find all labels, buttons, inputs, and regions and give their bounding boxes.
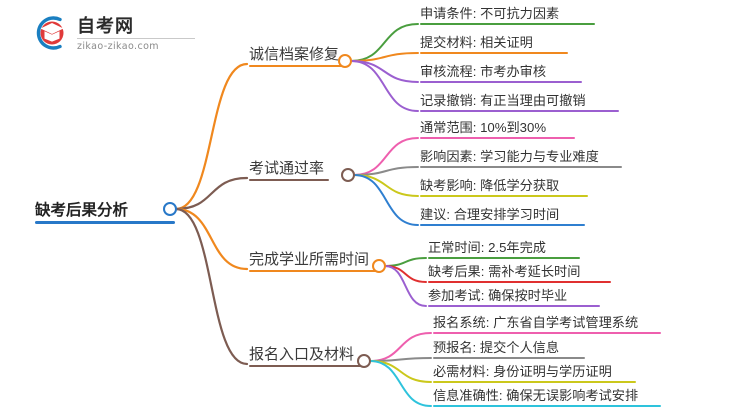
logo-domain: zikao-zikao.com [77, 42, 195, 52]
leaf-node-4-4[interactable]: 信息准确性: 确保无误影响考试安排 [433, 385, 661, 407]
connector-path [351, 53, 418, 61]
leaf-node-3-2-label: 缺考后果: 需补考延长时间 [428, 261, 611, 280]
graduation-cap-icon [28, 12, 70, 54]
branch-node-3[interactable]: 完成学业所需时间 [249, 248, 377, 272]
connector-path [351, 24, 418, 61]
leaf-node-1-1[interactable]: 申请条件: 不可抗力因素 [420, 3, 595, 25]
leaf-node-2-1[interactable]: 通常范围: 10%到30% [420, 117, 575, 139]
leaf-node-4-1-underline [433, 332, 661, 334]
leaf-node-4-2-underline [433, 357, 585, 359]
branch-node-3-label: 完成学业所需时间 [249, 248, 377, 269]
leaf-node-2-4-label: 建议: 合理安排学习时间 [420, 204, 585, 223]
branch-connector-dot-3[interactable] [372, 259, 386, 273]
leaf-node-2-1-underline [420, 137, 575, 139]
branch-node-1-label: 诚信档案修复 [249, 43, 344, 64]
leaf-node-1-4-underline [420, 110, 619, 112]
connector-path [176, 209, 247, 364]
root-node[interactable]: 缺考后果分析 [35, 198, 175, 224]
leaf-node-3-3-underline [428, 305, 600, 307]
connector-path [385, 266, 426, 306]
leaf-node-3-2[interactable]: 缺考后果: 需补考延长时间 [428, 261, 611, 283]
leaf-node-3-2-underline [428, 281, 611, 283]
connector-path [351, 61, 418, 82]
branch-node-3-underline [249, 270, 377, 272]
branch-node-2-underline [249, 179, 329, 181]
leaf-node-2-2[interactable]: 影响因素: 学习能力与专业难度 [420, 146, 622, 168]
site-logo: 自考网 zikao-zikao.com [28, 12, 195, 54]
branch-node-4-label: 报名入口及材料 [249, 343, 362, 364]
connector-path [354, 175, 418, 196]
leaf-node-2-3-label: 缺考影响: 降低学分获取 [420, 175, 588, 194]
leaf-node-4-3[interactable]: 必需材料: 身份证明与学历证明 [433, 361, 636, 383]
leaf-node-1-2-underline [420, 52, 568, 54]
branch-node-2[interactable]: 考试通过率 [249, 157, 329, 181]
leaf-node-3-3-label: 参加考试: 确保按时毕业 [428, 285, 600, 304]
connector-path [370, 358, 431, 361]
branch-node-1[interactable]: 诚信档案修复 [249, 43, 344, 67]
root-connector-dot[interactable] [163, 202, 177, 216]
leaf-node-2-4[interactable]: 建议: 合理安排学习时间 [420, 204, 585, 226]
mindmap-canvas: 自考网 zikao-zikao.com 缺考后果分析诚信档案修复申请条件: 不可… [0, 0, 750, 410]
leaf-node-4-2[interactable]: 预报名: 提交个人信息 [433, 337, 585, 359]
leaf-node-4-4-label: 信息准确性: 确保无误影响考试安排 [433, 385, 661, 404]
connector-path [385, 258, 426, 266]
leaf-node-4-3-underline [433, 381, 636, 383]
connector-path [176, 209, 247, 269]
branch-node-1-underline [249, 65, 344, 67]
branch-connector-dot-1[interactable] [338, 54, 352, 68]
leaf-node-1-3[interactable]: 审核流程: 市考办审核 [420, 61, 582, 83]
leaf-node-3-1-label: 正常时间: 2.5年完成 [428, 237, 580, 256]
leaf-node-2-2-label: 影响因素: 学习能力与专业难度 [420, 146, 622, 165]
connector-path [354, 167, 418, 175]
connector-path [354, 175, 418, 225]
branch-node-2-label: 考试通过率 [249, 157, 329, 178]
leaf-node-4-1[interactable]: 报名系统: 广东省自学考试管理系统 [433, 312, 661, 334]
branch-connector-dot-2[interactable] [341, 168, 355, 182]
leaf-node-4-2-label: 预报名: 提交个人信息 [433, 337, 585, 356]
branch-connector-dot-4[interactable] [357, 354, 371, 368]
leaf-node-2-3[interactable]: 缺考影响: 降低学分获取 [420, 175, 588, 197]
connector-path [354, 138, 418, 175]
logo-divider [77, 38, 195, 39]
connector-path [385, 266, 426, 282]
leaf-node-1-1-label: 申请条件: 不可抗力因素 [420, 3, 595, 22]
logo-brand-name: 自考网 [77, 17, 195, 35]
root-node-underline [35, 221, 175, 224]
leaf-node-4-1-label: 报名系统: 广东省自学考试管理系统 [433, 312, 661, 331]
leaf-node-3-1-underline [428, 257, 580, 259]
connector-path [351, 61, 418, 111]
leaf-node-2-2-underline [420, 166, 622, 168]
connector-path [176, 64, 247, 209]
leaf-node-1-4-label: 记录撤销: 有正当理由可撤销 [420, 90, 619, 109]
leaf-node-1-4[interactable]: 记录撤销: 有正当理由可撤销 [420, 90, 619, 112]
branch-node-4-underline [249, 365, 362, 367]
leaf-node-4-3-label: 必需材料: 身份证明与学历证明 [433, 361, 636, 380]
connector-path [176, 178, 247, 209]
leaf-node-3-3[interactable]: 参加考试: 确保按时毕业 [428, 285, 600, 307]
leaf-node-1-2-label: 提交材料: 相关证明 [420, 32, 568, 51]
branch-node-4[interactable]: 报名入口及材料 [249, 343, 362, 367]
leaf-node-3-1[interactable]: 正常时间: 2.5年完成 [428, 237, 580, 259]
connector-path [370, 361, 431, 406]
leaf-node-1-2[interactable]: 提交材料: 相关证明 [420, 32, 568, 54]
leaf-node-2-4-underline [420, 224, 585, 226]
leaf-node-1-1-underline [420, 23, 595, 25]
leaf-node-4-4-underline [433, 405, 661, 407]
connector-path [370, 361, 431, 382]
leaf-node-1-3-label: 审核流程: 市考办审核 [420, 61, 582, 80]
leaf-node-1-3-underline [420, 81, 582, 83]
leaf-node-2-3-underline [420, 195, 588, 197]
leaf-node-2-1-label: 通常范围: 10%到30% [420, 117, 575, 136]
connector-path [370, 333, 431, 361]
root-node-label: 缺考后果分析 [35, 198, 175, 220]
